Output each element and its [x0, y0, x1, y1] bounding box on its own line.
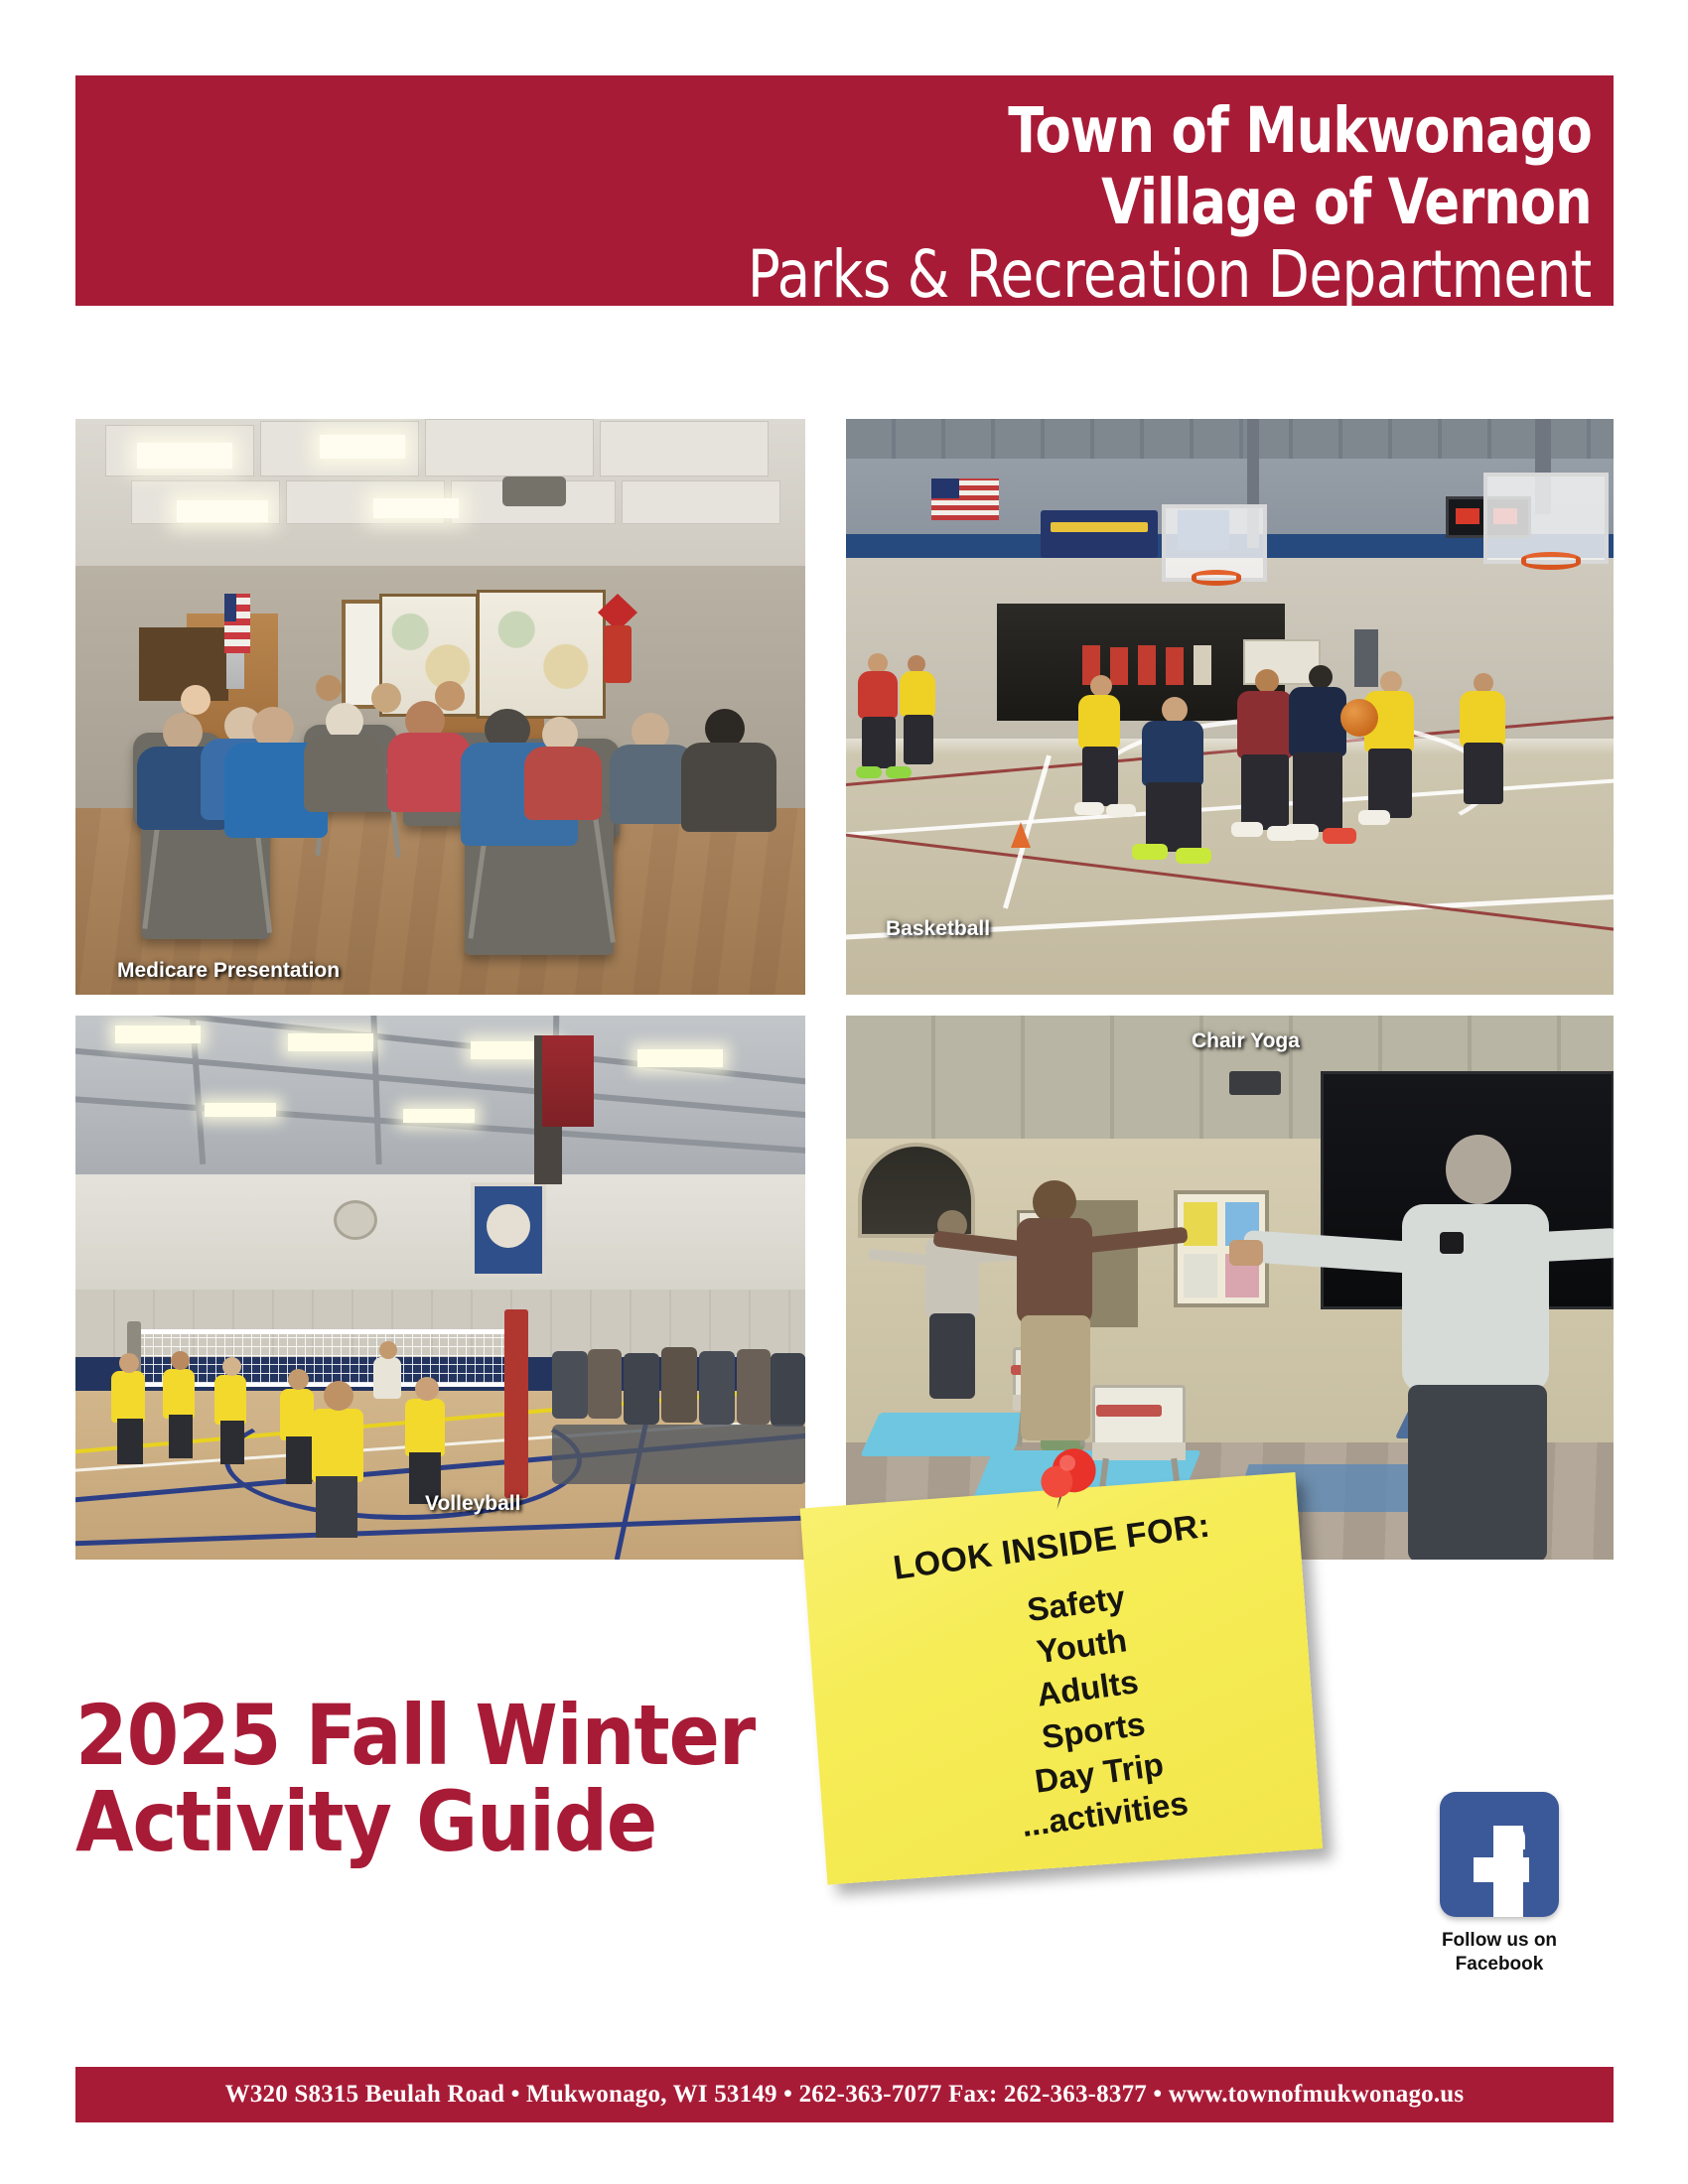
board-flyer	[1184, 1202, 1217, 1246]
attendee-body	[681, 743, 776, 832]
basketball-rim	[1192, 570, 1241, 586]
player-shoe	[1074, 802, 1104, 815]
footer-contact-info: W320 S8315 Beulah Road • Mukwonago, WI 5…	[225, 2081, 1465, 2109]
ceiling-light	[205, 1103, 276, 1117]
player-shoe	[856, 766, 882, 778]
participant-torso	[1402, 1204, 1549, 1393]
header-title-department: Parks & Recreation Department	[748, 242, 1592, 308]
facebook-f-icon[interactable]	[1440, 1792, 1559, 1917]
attendee-body	[524, 747, 602, 820]
attendee-head	[371, 683, 401, 713]
banner-text	[1051, 522, 1148, 532]
volleyball-player-jersey	[405, 1399, 445, 1456]
page-title: 2025 Fall Winter Activity Guide	[75, 1693, 830, 1866]
wristwatch	[1440, 1232, 1464, 1254]
gym-wall-upper	[75, 1174, 805, 1294]
player-legs	[1146, 782, 1201, 852]
player-head	[1162, 697, 1188, 723]
player-shoe	[1132, 844, 1168, 860]
player-head	[119, 1353, 139, 1373]
player-legs	[1368, 749, 1412, 818]
player-legs	[169, 1415, 193, 1458]
player-jersey-dark	[1289, 687, 1346, 756]
gym-ceiling-structure	[846, 419, 1614, 459]
volleyball-player-jersey-white	[373, 1357, 401, 1399]
participant-hand	[1229, 1240, 1263, 1266]
volleyball-player-jersey	[111, 1371, 145, 1423]
ceiling-light	[177, 500, 268, 522]
exit-sign	[1229, 1071, 1281, 1095]
ceiling-light	[637, 1049, 723, 1067]
bench-player	[1110, 647, 1128, 685]
scoreboard-digits	[1456, 508, 1479, 524]
player-shoe	[1358, 810, 1390, 825]
header-banner: Town of Mukwonago Village of Vernon Park…	[75, 75, 1614, 306]
bench-player	[1138, 645, 1156, 685]
player-legs	[1293, 752, 1342, 832]
player-legs	[117, 1419, 143, 1464]
ceiling-light	[115, 1025, 201, 1043]
photo-medicare-presentation: Medicare Presentation	[75, 419, 805, 995]
player-head	[1090, 675, 1112, 697]
american-flag-canton	[931, 478, 959, 498]
look-inside-sticky-note: LOOK INSIDE FOR: Safety Youth Adults Spo…	[800, 1471, 1345, 1915]
referee	[1354, 629, 1378, 687]
chair-strap	[1096, 1405, 1162, 1417]
ceiling-light	[373, 498, 459, 518]
player-jersey-yellow	[1460, 691, 1505, 747]
volleyball-player-jersey	[312, 1409, 363, 1482]
participant-pants	[1408, 1385, 1547, 1560]
player-jersey-red	[858, 671, 898, 719]
photo-caption: Volleyball	[425, 1492, 520, 1516]
player-jersey-maroon	[1237, 691, 1293, 758]
player-head	[868, 653, 888, 673]
player-head	[288, 1369, 309, 1390]
facebook-caption-line2: Facebook	[1410, 1953, 1589, 1977]
facebook-caption-line1: Follow us on	[1410, 1929, 1589, 1953]
projector	[502, 477, 566, 506]
photo-caption: Medicare Presentation	[117, 959, 340, 983]
player-head	[1474, 673, 1493, 693]
participant-torso	[1017, 1218, 1092, 1325]
volleyball-player-jersey	[214, 1375, 246, 1425]
bleacher-row	[552, 1425, 805, 1484]
participant-arm	[1534, 1228, 1614, 1262]
facebook-block[interactable]: Follow us on Facebook	[1410, 1792, 1589, 1977]
player-legs	[316, 1476, 357, 1538]
ceiling-tile	[622, 480, 780, 524]
photo-caption: Basketball	[886, 917, 990, 941]
school-banner	[1041, 510, 1158, 558]
photo-basketball: Basketball	[846, 419, 1614, 995]
photo-caption: Chair Yoga	[1192, 1029, 1300, 1053]
ceiling-light	[137, 443, 232, 469]
banner-emblem	[487, 1204, 530, 1248]
player-head	[415, 1377, 439, 1401]
facebook-f-top	[1493, 1826, 1525, 1849]
spectator	[699, 1351, 735, 1425]
player-head	[324, 1381, 353, 1411]
facebook-f-crossbar	[1474, 1857, 1529, 1882]
participant-legs	[929, 1313, 975, 1399]
spectator	[588, 1349, 622, 1419]
player-shoe	[886, 766, 912, 778]
basketball-rim	[1521, 552, 1581, 570]
player-head	[379, 1341, 397, 1359]
bench-player	[1166, 647, 1184, 685]
volleyball-player-jersey	[163, 1369, 195, 1419]
player-jersey-yellow	[1078, 695, 1120, 749]
player-legs	[904, 715, 933, 764]
wall-pennant	[542, 1035, 594, 1127]
player-shoe	[1285, 824, 1319, 840]
fire-extinguisher	[604, 625, 632, 683]
attendee-body	[304, 735, 383, 812]
attendee-head	[181, 685, 211, 715]
participant-pants	[1021, 1315, 1090, 1440]
header-title-town: Town of Mukwonago	[1008, 99, 1592, 162]
ceiling-light	[288, 1033, 373, 1051]
spectator	[624, 1353, 659, 1425]
ceiling-light	[403, 1109, 475, 1123]
bench-spectator	[1194, 645, 1211, 685]
wall-map	[477, 590, 606, 719]
court-arc	[224, 1401, 582, 1520]
volleyball-player-jersey	[280, 1389, 314, 1440]
player-shoe	[1176, 848, 1211, 864]
player-legs	[220, 1421, 244, 1464]
attendee-head	[435, 681, 465, 711]
spectator	[771, 1353, 805, 1427]
player-head	[1380, 671, 1402, 693]
player-legs	[1241, 754, 1289, 830]
player-legs	[1464, 743, 1503, 804]
footer-banner: W320 S8315 Beulah Road • Mukwonago, WI 5…	[75, 2067, 1614, 2122]
wall-clock	[334, 1200, 377, 1240]
chair-back	[1092, 1385, 1186, 1448]
photo-volleyball: Volleyball	[75, 1016, 805, 1560]
ceiling-tile	[600, 421, 769, 477]
player-shoe	[1323, 828, 1356, 844]
pushpin-icon	[1029, 1442, 1108, 1525]
facebook-caption: Follow us on Facebook	[1410, 1929, 1589, 1977]
player-head	[171, 1351, 190, 1370]
page-title-line2: Activity Guide	[75, 1779, 830, 1865]
board-flyer	[1184, 1254, 1217, 1297]
participant-head	[1446, 1135, 1511, 1204]
attendee-body	[387, 733, 471, 812]
spectator	[661, 1347, 697, 1423]
player-head	[1309, 665, 1333, 689]
spectator	[552, 1351, 588, 1419]
page-title-line1: 2025 Fall Winter	[75, 1693, 830, 1779]
net-post	[504, 1309, 528, 1498]
player-legs	[862, 717, 896, 768]
ceiling-tile	[425, 419, 594, 477]
backboard	[1483, 473, 1609, 564]
presenter-head	[316, 675, 342, 701]
ceiling-light	[320, 435, 405, 459]
player-legs	[1082, 747, 1118, 806]
basketball-ball	[1340, 699, 1378, 737]
header-title-village: Village of Vernon	[1101, 171, 1592, 233]
player-jersey-yellow	[900, 671, 935, 717]
player-jersey-navy	[1142, 721, 1203, 786]
player-head	[222, 1357, 241, 1376]
spectator	[737, 1349, 771, 1425]
player-legs	[286, 1436, 312, 1484]
player-head	[1255, 669, 1279, 693]
american-flag-canton	[224, 594, 236, 621]
player-shoe	[1231, 822, 1263, 837]
player-shoe	[1106, 804, 1136, 817]
